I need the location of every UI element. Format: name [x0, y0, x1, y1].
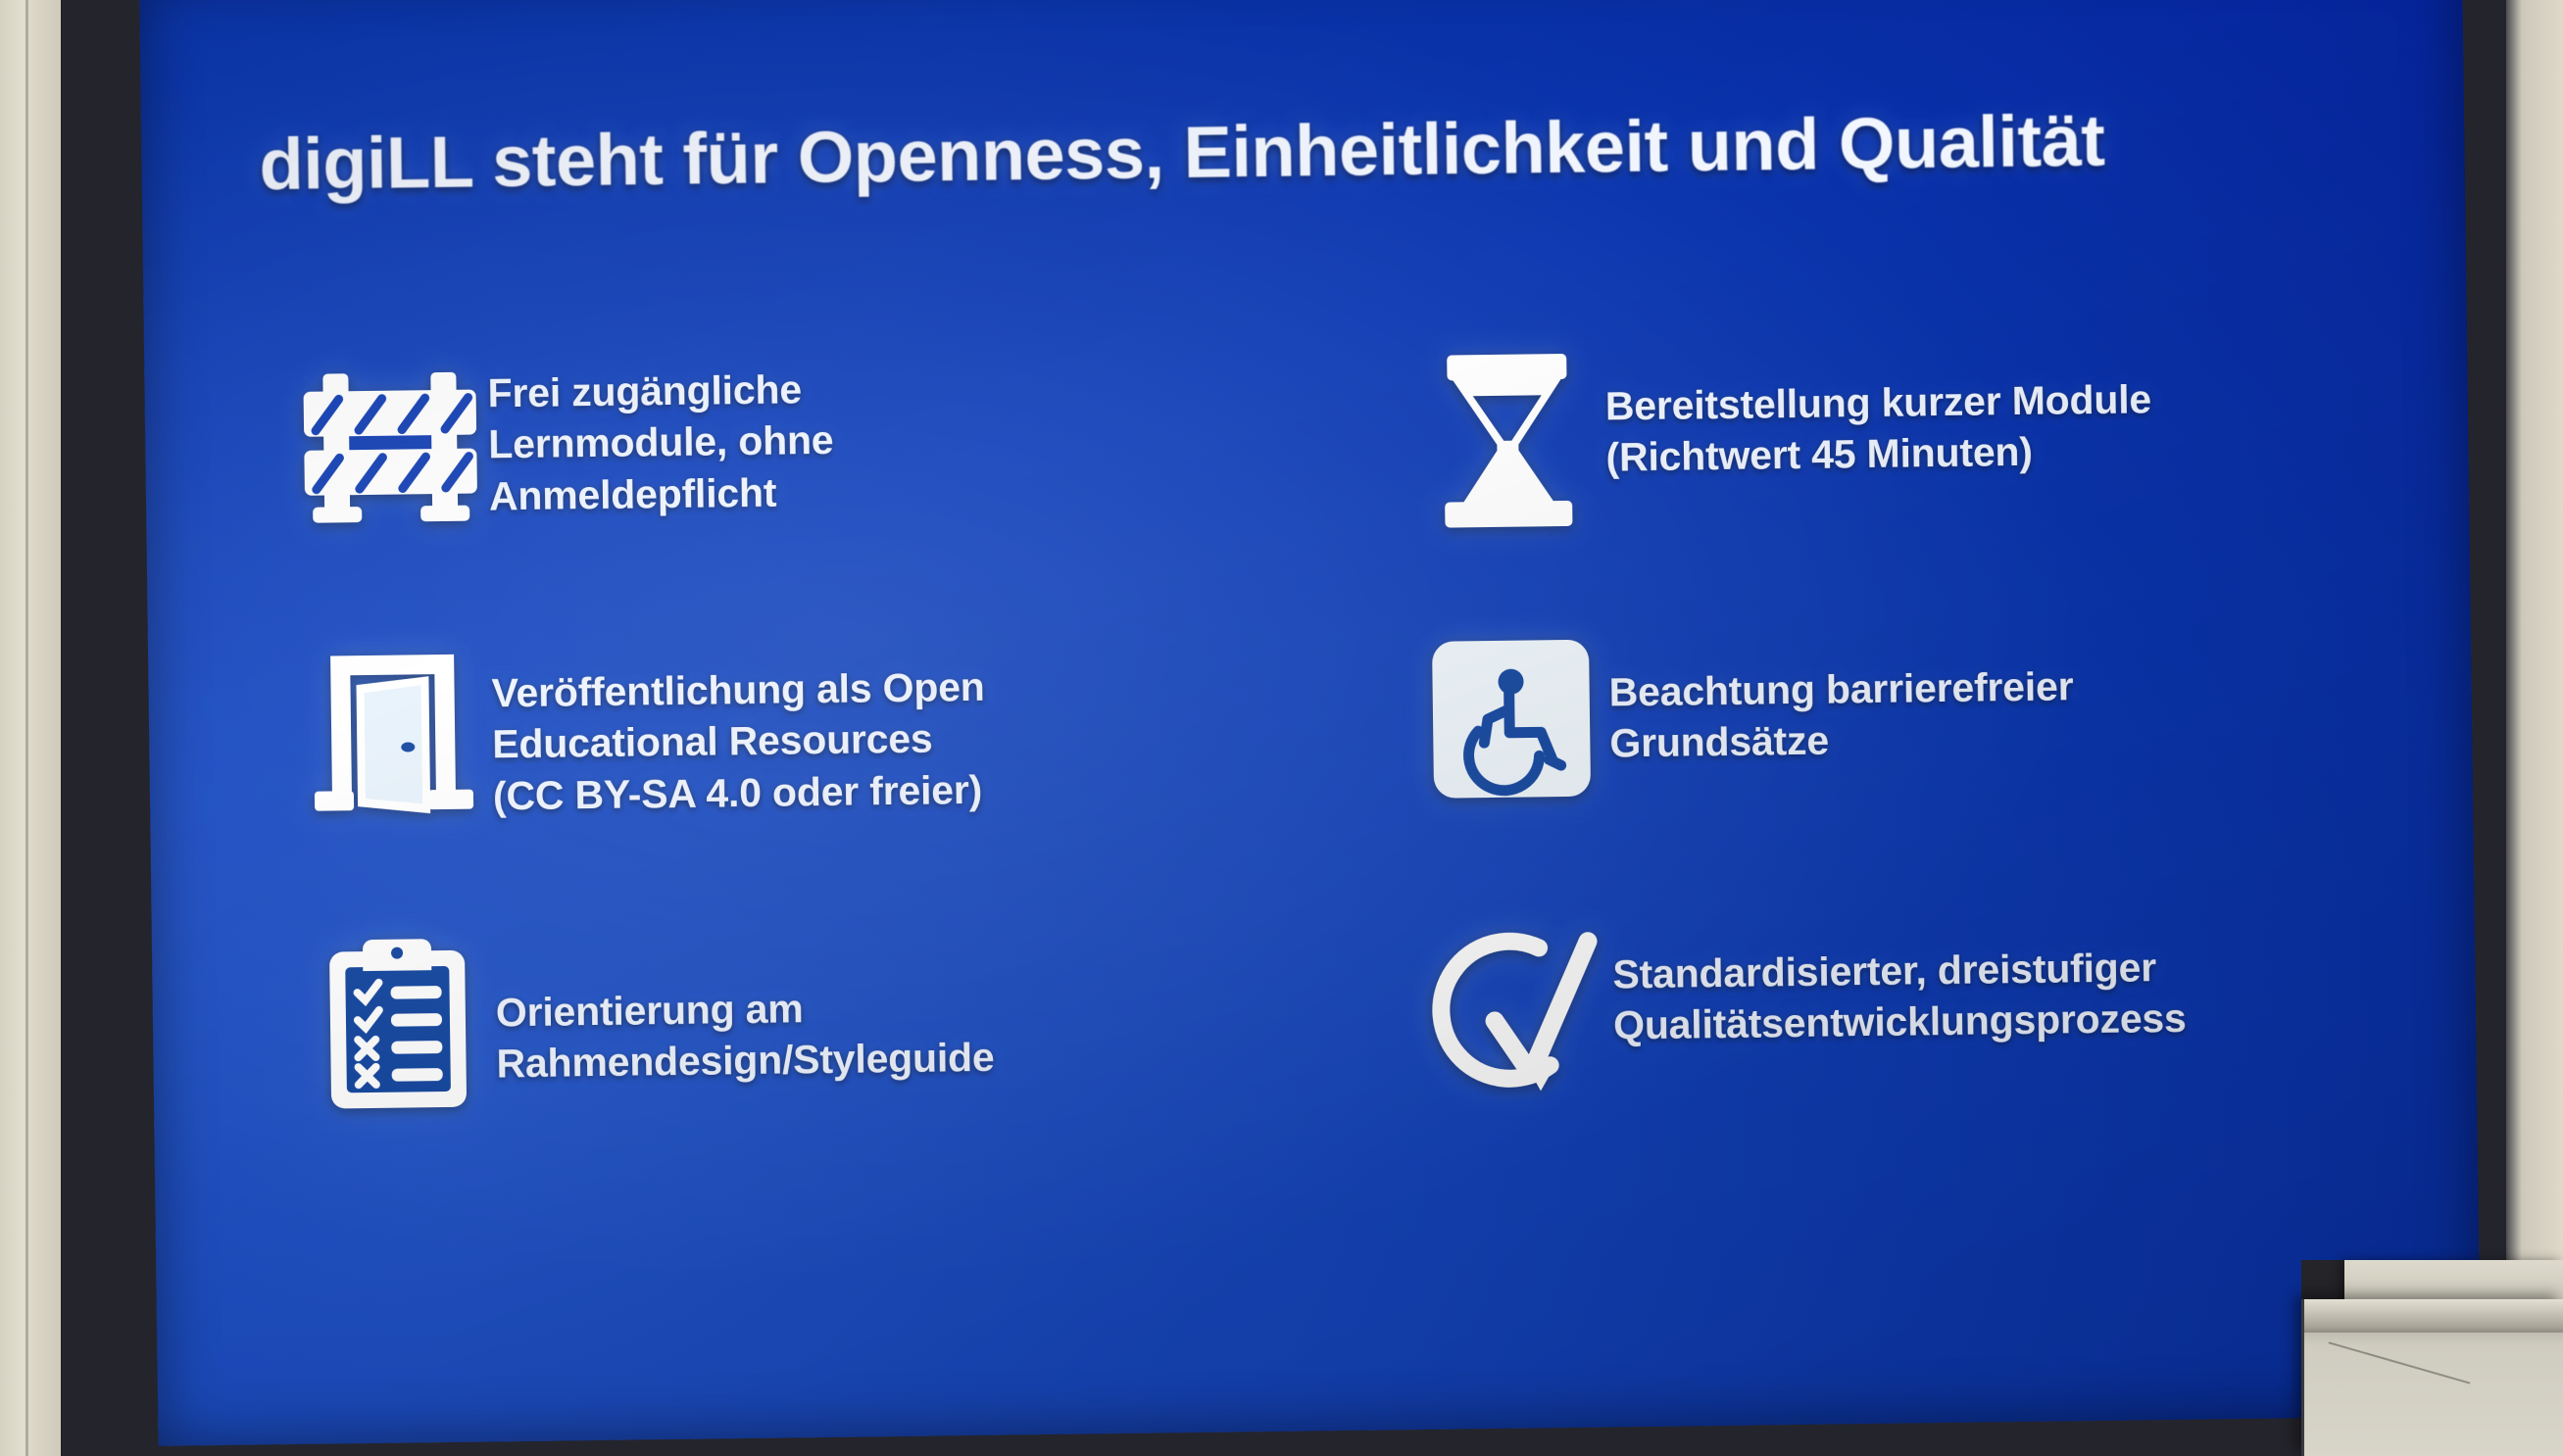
list-item-text: Beachtung barrierefreier Grundsätze [1608, 621, 2075, 769]
list-item-text: Frei zugängliche Lernmodule, ohne Anmeld… [487, 354, 834, 522]
text-line: Standardisierter, dreistufiger [1612, 942, 2186, 1000]
list-item-text: Veröffentlichung als Open Educational Re… [491, 636, 986, 822]
flipchart-crease [2329, 1341, 2471, 1383]
page-title: digiLL steht für Openness, Einheitlichke… [259, 99, 2318, 204]
list-item: Bereitstellung kurzer Module (Richtwert … [1408, 332, 2432, 630]
foreground-flipchart [2301, 1299, 2563, 1456]
circular-arrow-check-icon [1416, 911, 1614, 1102]
room-background: digiLL steht für Openness, Einheitlichke… [0, 0, 2563, 1456]
hourglass-icon [1408, 343, 1606, 530]
list-item-text: Bereitstellung kurzer Module (Richtwert … [1604, 336, 2152, 483]
projection-screen-bezel: digiLL steht für Openness, Einheitlichke… [61, 0, 2506, 1456]
list-item: Frei zugängliche Lernmodule, ohne Anmeld… [291, 347, 1314, 645]
text-line: Anmeldepflicht [489, 466, 835, 522]
wall-left [0, 0, 61, 1456]
left-column: Frei zugängliche Lernmodule, ohne Anmeld… [291, 347, 1321, 1213]
text-line: Beachtung barrierefreier [1608, 660, 2073, 718]
slide-content: digiLL steht für Openness, Einheitlichke… [139, 0, 2481, 1411]
text-line: (CC BY-SA 4.0 oder freier) [493, 764, 987, 822]
clipboard-checklist-icon [299, 926, 497, 1115]
list-item: Standardisierter, dreistufiger Qualitäts… [1416, 900, 2440, 1198]
wall-right [2504, 0, 2563, 1456]
list-item: Orientierung am Rahmendesign/Styleguide [299, 915, 1322, 1213]
presentation-slide: digiLL steht für Openness, Einheitlichke… [139, 0, 2481, 1446]
text-line: Veröffentlichung als Open [491, 661, 985, 719]
list-item-text: Orientierung am Rahmendesign/Styleguide [495, 920, 995, 1091]
text-line: Orientierung am [496, 981, 995, 1039]
flipchart-lip [2304, 1299, 2563, 1333]
wall-seam [25, 0, 28, 1456]
text-line: Lernmodule, ohne [488, 414, 834, 470]
text-line: (Richtwert 45 Minuten) [1605, 425, 2152, 484]
text-line: Educational Resources [492, 712, 986, 770]
open-door-icon [295, 642, 493, 819]
right-column: Bereitstellung kurzer Module (Richtwert … [1408, 332, 2439, 1198]
text-line: Bereitstellung kurzer Module [1605, 373, 2152, 432]
list-item: Veröffentlichung als Open Educational Re… [295, 631, 1318, 929]
wheelchair-accessibility-icon [1412, 627, 1610, 804]
list-item: Beachtung barrierefreier Grundsätze [1412, 616, 2436, 914]
text-line: Frei zugängliche [487, 364, 833, 419]
list-item-text: Standardisierter, dreistufiger Qualitäts… [1612, 904, 2187, 1052]
road-barrier-icon [291, 358, 489, 531]
text-line: Grundsätze [1609, 712, 2074, 770]
text-line: Qualitätsentwicklungsprozess [1613, 993, 2187, 1051]
text-line: Rahmendesign/Styleguide [496, 1032, 995, 1090]
